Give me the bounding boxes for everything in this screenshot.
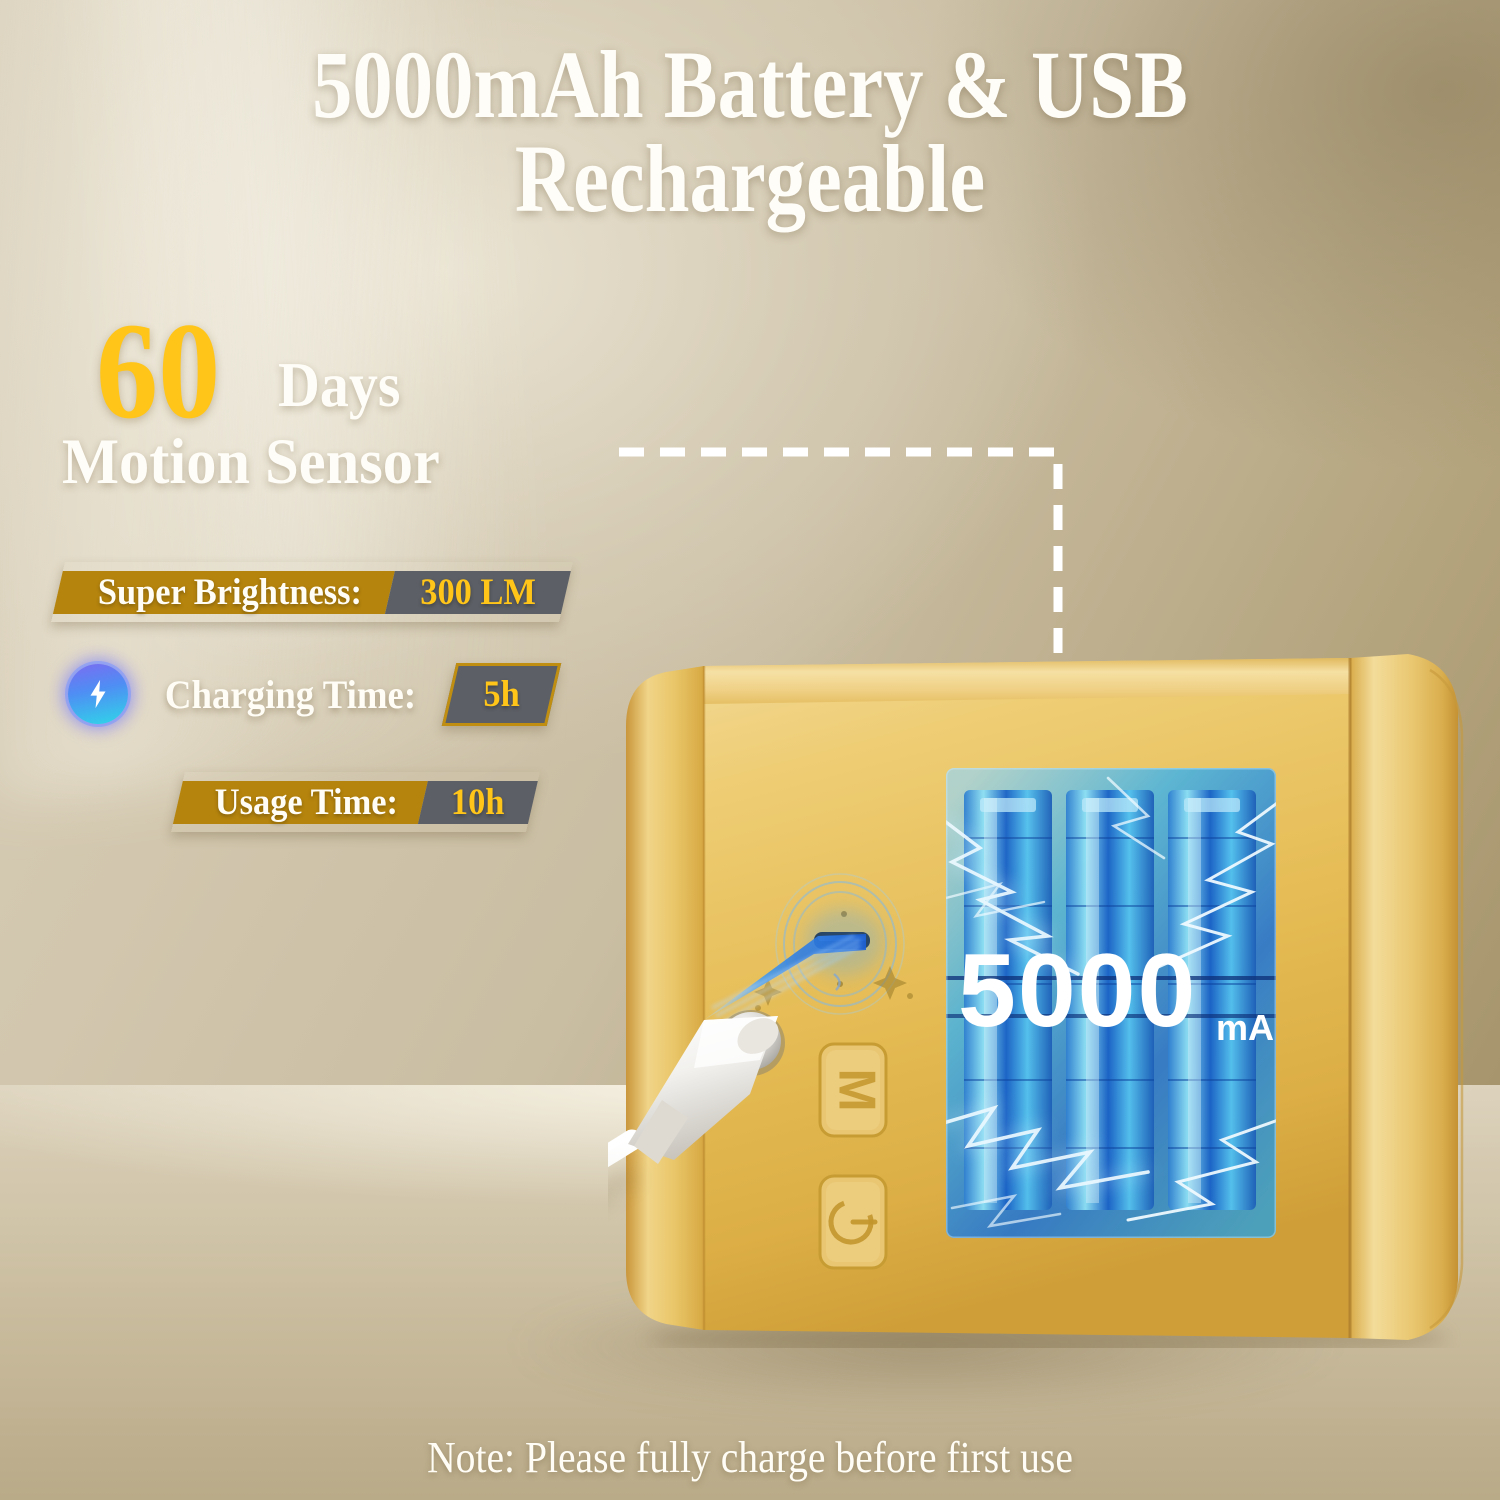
hero-number-unit: Days xyxy=(278,352,400,418)
spec-badge-charging: Charging Time: 5h xyxy=(60,664,554,724)
spec-label-container: Usage Time: xyxy=(173,781,428,824)
device-left-edge xyxy=(626,666,704,1330)
spec-value-usage: 10h xyxy=(451,781,505,824)
lightning-bolt-icon xyxy=(60,656,136,732)
spec-value-brightness: 300 LM xyxy=(420,571,536,614)
battery-capacity-value: 5000 xyxy=(958,933,1197,1049)
hero-number: 60 xyxy=(96,308,220,434)
mode-button[interactable]: M xyxy=(820,1044,886,1136)
device-right-panel xyxy=(1350,654,1458,1340)
spec-label-container: Super Brightness: xyxy=(53,571,395,614)
spec-value-container-charging: 5h xyxy=(442,663,562,726)
power-button[interactable] xyxy=(820,1176,886,1268)
spec-badge-usage: Usage Time: 10h xyxy=(178,772,533,832)
hero-subtitle: Motion Sensor xyxy=(62,428,670,496)
product-marketing-scene: 5000mAh Battery & USB Rechargeable 60 Da… xyxy=(0,0,1500,1500)
spec-label-brightness: Super Brightness: xyxy=(98,571,362,614)
footer-note: Note: Please fully charge before first u… xyxy=(75,1432,1425,1483)
icon-circle xyxy=(68,664,128,724)
page-title: 5000mAh Battery & USB Rechargeable xyxy=(120,38,1380,226)
battery-visualization: 5000 mAh xyxy=(938,768,1296,1238)
spec-value-container: 300 LM xyxy=(385,571,571,614)
spec-label-usage: Usage Time: xyxy=(215,781,398,824)
bolt-glyph xyxy=(88,679,108,709)
product-device-image: 5000 mAh xyxy=(608,648,1488,1348)
spec-value-charging: 5h xyxy=(483,673,519,716)
mode-button-glyph: M xyxy=(827,1068,885,1111)
spec-badge-brightness: Super Brightness: 300 LM xyxy=(58,562,566,622)
spec-label-charging: Charging Time: xyxy=(165,671,416,718)
spec-value-container: 10h xyxy=(418,781,538,824)
